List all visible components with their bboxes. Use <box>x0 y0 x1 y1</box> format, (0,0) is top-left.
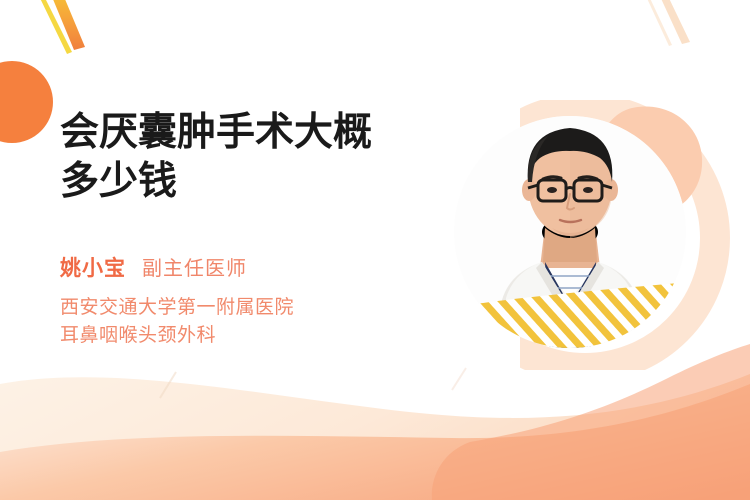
portrait-circle-base <box>454 116 686 348</box>
wave-salmon-decor <box>0 384 750 500</box>
doctor-rank: 副主任医师 <box>142 252 247 281</box>
wave-light-decor <box>0 374 750 500</box>
pen-stroke-marks <box>160 368 466 398</box>
text-block: 会厌囊肿手术大概 多少钱 姚小宝 副主任医师 西安交通大学第一附属医院 耳鼻咽喉… <box>60 108 430 350</box>
top-right-stripes <box>645 0 690 46</box>
doctor-identity-line: 姚小宝 副主任医师 <box>60 252 430 282</box>
doctor-name: 姚小宝 <box>60 252 126 282</box>
peach-blob-decor <box>595 106 702 216</box>
peach-ring-decor <box>455 108 715 368</box>
gold-stripe-segment <box>452 282 690 352</box>
page-title: 会厌囊肿手术大概 多少钱 <box>60 108 430 206</box>
wave-salmon-highlight <box>432 344 750 500</box>
doctor-portrait-art <box>454 116 686 350</box>
orange-circle-decor <box>0 61 53 143</box>
top-left-stripes <box>38 0 85 54</box>
doctor-affiliation: 西安交通大学第一附属医院 耳鼻咽喉头颈外科 <box>60 294 430 350</box>
doctor-info-card: 会厌囊肿手术大概 多少钱 姚小宝 副主任医师 西安交通大学第一附属医院 耳鼻咽喉… <box>0 0 750 500</box>
